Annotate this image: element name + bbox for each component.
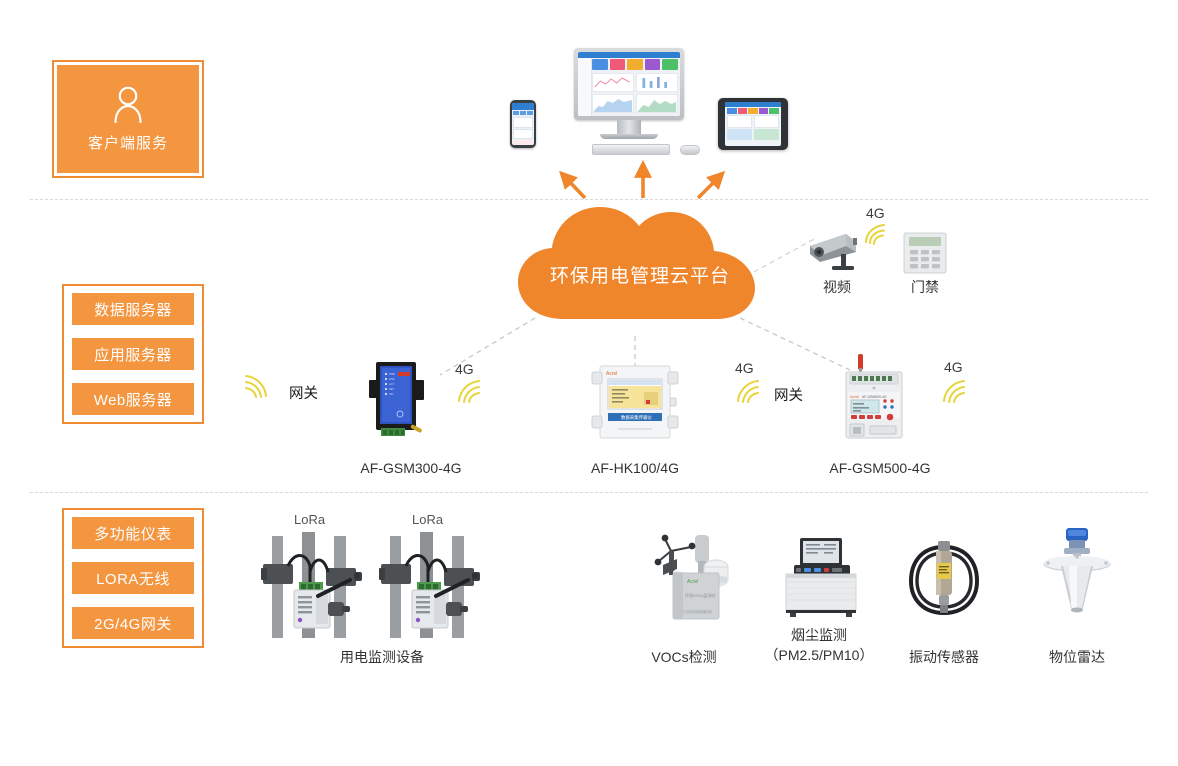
tablet-icon xyxy=(718,98,788,150)
legend-client-service[interactable]: 客户端服务 xyxy=(52,60,204,178)
dust-label-line2: （PM2.5/PM10） xyxy=(754,645,884,665)
gsm300-model-label: AF-GSM300-4G xyxy=(336,459,486,478)
svg-text:江苏安科瑞电器制造: 江苏安科瑞电器制造 xyxy=(683,609,712,614)
level-radar-label: 物位雷达 xyxy=(1021,648,1133,667)
vibration-label: 振动传感器 xyxy=(888,648,1000,667)
gsm300-network-tag: 4G xyxy=(455,361,474,377)
svg-text:Acrel: Acrel xyxy=(606,371,617,377)
access-control-label: 门禁 xyxy=(903,278,947,297)
svg-text:ACT: ACT xyxy=(389,382,395,386)
hk100-model-label: AF-HK100/4G xyxy=(570,459,700,478)
gsm300-wifi-right-icon xyxy=(448,378,482,404)
svg-text:AF-GSM500-4G: AF-GSM500-4G xyxy=(862,395,887,399)
svg-text:环境VOCs监测仪: 环境VOCs监测仪 xyxy=(685,592,716,598)
dust-label-line1: 烟尘监测 xyxy=(754,625,884,645)
legend-item-data-server[interactable]: 数据服务器 xyxy=(72,293,194,325)
legend-item-lora-wireless[interactable]: LORA无线 xyxy=(72,562,194,594)
imac-monitor-icon xyxy=(574,48,700,158)
hk100-gateway-label: 网关 xyxy=(774,384,803,405)
power-monitor-label: 用电监测设备 xyxy=(297,648,467,667)
svg-text:Acrel: Acrel xyxy=(850,394,859,399)
vocs-label: VOCs检测 xyxy=(628,648,740,667)
person-icon xyxy=(111,85,145,128)
video-label: 视频 xyxy=(806,278,868,297)
svg-text:PWR: PWR xyxy=(389,372,395,376)
video-network-tag: 4G xyxy=(866,205,885,221)
level-radar-icon xyxy=(1036,524,1118,620)
gsm500-network-tag: 4G xyxy=(944,359,963,375)
blue-gateway-icon: PWRLINKACTNETSIG xyxy=(360,358,432,448)
svg-text:LINK: LINK xyxy=(389,377,395,381)
lora-clamp-meter-icon xyxy=(376,532,486,642)
data-acquisition-box-icon: Acrel 数据采集传输仪 xyxy=(588,362,682,446)
legend-client-label: 客户端服务 xyxy=(88,132,168,153)
svg-text:数据采集传输仪: 数据采集传输仪 xyxy=(621,414,652,421)
vocs-station-icon: Acrel 环境VOCs监测仪 江苏安科瑞电器制造 xyxy=(643,525,733,623)
legend-item-app-server[interactable]: 应用服务器 xyxy=(72,338,194,370)
gsm500-wifi-icon xyxy=(933,378,967,404)
legend-item-2g4g-gateway[interactable]: 2G/4G网关 xyxy=(72,607,194,639)
legend-servers[interactable]: 数据服务器 应用服务器 Web服务器 xyxy=(62,284,204,424)
din-rail-meter-icon: Acrel AF-GSM500-4G xyxy=(838,350,910,446)
gsm500-model-label: AF-GSM500-4G xyxy=(810,459,950,478)
lora-tag-left: LoRa xyxy=(294,512,325,527)
lora-tag-right: LoRa xyxy=(412,512,443,527)
svg-text:SIG: SIG xyxy=(389,392,393,396)
svg-text:Acrel: Acrel xyxy=(687,579,698,585)
keypad-icon xyxy=(903,232,947,274)
cctv-camera-icon xyxy=(806,228,868,272)
legend-item-multifunction-meter[interactable]: 多功能仪表 xyxy=(72,517,194,549)
gsm300-gateway-label: 网关 xyxy=(289,382,318,403)
svg-text:NET: NET xyxy=(389,387,395,391)
dust-label: 烟尘监测 （PM2.5/PM10） xyxy=(754,625,884,665)
hk100-wifi-icon xyxy=(727,378,761,404)
dust-analyzer-icon xyxy=(774,536,866,618)
vibration-sensor-icon xyxy=(905,533,983,621)
legend-field-devices[interactable]: 多功能仪表 LORA无线 2G/4G网关 xyxy=(62,508,204,648)
hk100-network-tag: 4G xyxy=(735,360,754,376)
legend-item-web-server[interactable]: Web服务器 xyxy=(72,383,194,415)
lora-clamp-meter-icon xyxy=(258,532,368,642)
divider-cloud-field xyxy=(30,492,1148,493)
gsm300-wifi-left-icon xyxy=(243,373,277,399)
smartphone-icon xyxy=(510,100,536,148)
